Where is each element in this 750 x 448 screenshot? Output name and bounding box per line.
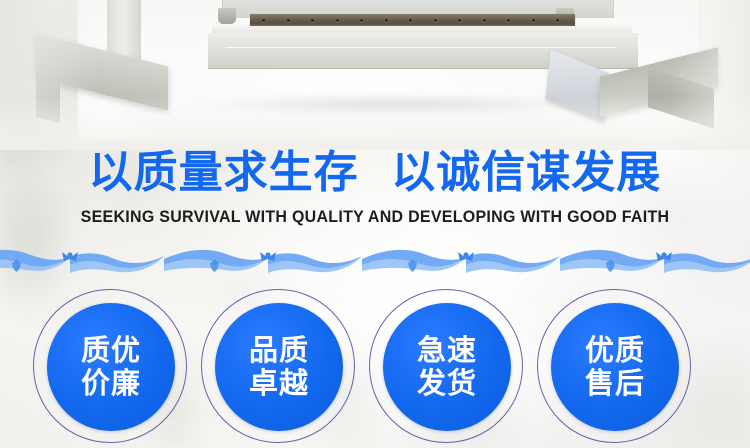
blade-bolt-hole xyxy=(262,19,265,22)
badge-caption: 优质售后 xyxy=(551,303,679,431)
ribbon-divider-svg xyxy=(0,243,750,277)
page-subtitle: SEEKING SURVIVAL WITH QUALITY AND DEVELO… xyxy=(23,205,728,229)
blade-bolt-hole xyxy=(336,19,339,22)
badge-caption: 品质卓越 xyxy=(215,303,343,431)
photo-fade-bottom xyxy=(0,96,750,150)
badge-line-2: 价廉 xyxy=(81,367,141,400)
badge-fast-shipping[interactable]: 急速发货 xyxy=(366,286,528,448)
blade-bolt-hole xyxy=(434,19,437,22)
badge-caption: 急速发货 xyxy=(383,303,511,431)
blade-bolt-hole xyxy=(458,19,461,22)
badge-line-1: 优质 xyxy=(585,334,645,367)
blade-bolt-hole xyxy=(532,19,535,22)
machine-photo xyxy=(0,0,750,150)
badge-quality-aftersales[interactable]: 优质售后 xyxy=(534,286,696,448)
badge-line-2: 发货 xyxy=(417,367,477,400)
blade-bolt-hole xyxy=(311,19,314,22)
badge-line-1: 质优 xyxy=(81,334,141,367)
badge-line-1: 品质 xyxy=(249,334,309,367)
badge-line-2: 卓越 xyxy=(249,367,309,400)
promo-banner-page: 以质量求生存 以诚信谋发展 SEEKING SURVIVAL WITH QUAL… xyxy=(0,0,750,448)
badge-excellent-quality[interactable]: 品质卓越 xyxy=(198,286,360,448)
blade-bolt-hole xyxy=(409,19,412,22)
badge-line-2: 售后 xyxy=(585,367,645,400)
blade-bolt-hole xyxy=(507,19,510,22)
blade-bolt-hole xyxy=(287,19,290,22)
feature-badge-row: 质优价廉品质卓越急速发货优质售后 xyxy=(0,286,750,448)
ribbon-divider xyxy=(0,243,750,277)
machine-clamp-left xyxy=(218,8,236,24)
page-title: 以质量求生存 以诚信谋发展 xyxy=(0,146,750,200)
blade-bolt-hole xyxy=(483,19,486,22)
badge-line-1: 急速 xyxy=(417,334,477,367)
blade-bolt-hole xyxy=(385,19,388,22)
blade-bolt-hole xyxy=(360,19,363,22)
blade-bolt-hole xyxy=(556,19,559,22)
badge-caption: 质优价廉 xyxy=(47,303,175,431)
badge-quality-affordable[interactable]: 质优价廉 xyxy=(30,286,192,448)
